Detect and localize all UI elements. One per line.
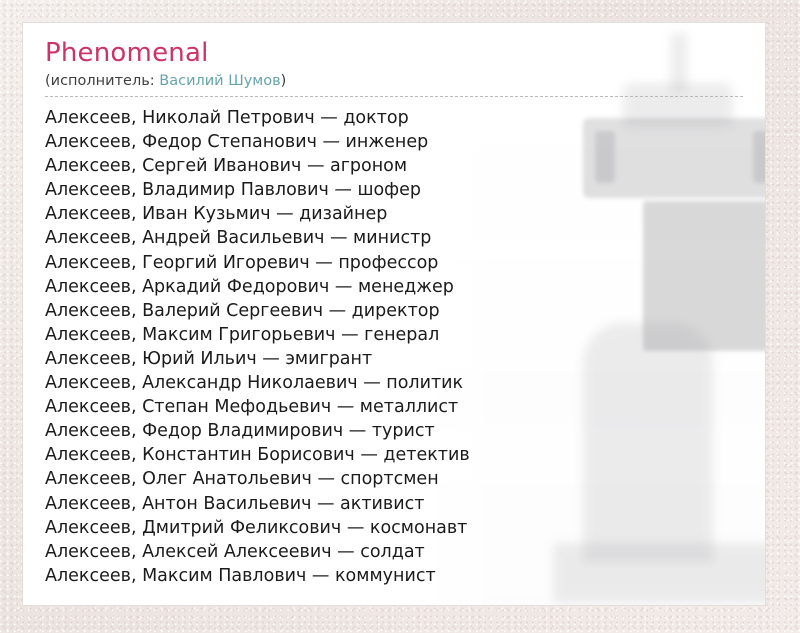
list-item: Алексеев, Аркадий Федорович — менеджер xyxy=(45,275,743,299)
header-divider xyxy=(45,96,743,97)
list-item: Алексеев, Иван Кузьмич — дизайнер xyxy=(45,202,743,226)
list-item: Алексеев, Максим Григорьевич — генерал xyxy=(45,323,743,347)
page-frame: Phenomenal (исполнитель: Василий Шумов) … xyxy=(0,0,800,633)
list-item: Алексеев, Николай Петрович — доктор xyxy=(45,106,743,130)
lyrics-list: Алексеев, Николай Петрович — доктор Алек… xyxy=(45,106,743,588)
list-item: Алексеев, Федор Степанович — инженер xyxy=(45,130,743,154)
artist-line: (исполнитель: Василий Шумов) xyxy=(45,72,743,90)
list-item: Алексеев, Владимир Павлович — шофер xyxy=(45,178,743,202)
list-item: Алексеев, Степан Мефодьевич — металлист xyxy=(45,395,743,419)
artist-label: (исполнитель: xyxy=(45,73,159,89)
list-item: Алексеев, Дмитрий Феликсович — космонавт xyxy=(45,516,743,540)
list-item: Алексеев, Юрий Ильич — эмигрант xyxy=(45,347,743,371)
page-title: Phenomenal xyxy=(45,39,743,69)
list-item: Алексеев, Георгий Игоревич — профессор xyxy=(45,251,743,275)
artist-suffix: ) xyxy=(281,73,287,89)
list-item: Алексеев, Антон Васильевич — активист xyxy=(45,492,743,516)
list-item: Алексеев, Максим Павлович — коммунист xyxy=(45,564,743,588)
list-item: Алексеев, Олег Анатольевич — спортсмен xyxy=(45,467,743,491)
list-item: Алексеев, Александр Николаевич — политик xyxy=(45,371,743,395)
lyrics-panel: Phenomenal (исполнитель: Василий Шумов) … xyxy=(22,22,766,606)
list-item: Алексеев, Алексей Алексеевич — солдат xyxy=(45,540,743,564)
list-item: Алексеев, Сергей Иванович — агроном xyxy=(45,154,743,178)
list-item: Алексеев, Андрей Васильевич — министр xyxy=(45,226,743,250)
panel-content: Phenomenal (исполнитель: Василий Шумов) … xyxy=(23,23,765,588)
list-item: Алексеев, Федор Владимирович — турист xyxy=(45,419,743,443)
list-item: Алексеев, Валерий Сергеевич — директор xyxy=(45,299,743,323)
artist-link[interactable]: Василий Шумов xyxy=(159,73,280,89)
list-item: Алексеев, Константин Борисович — детекти… xyxy=(45,443,743,467)
